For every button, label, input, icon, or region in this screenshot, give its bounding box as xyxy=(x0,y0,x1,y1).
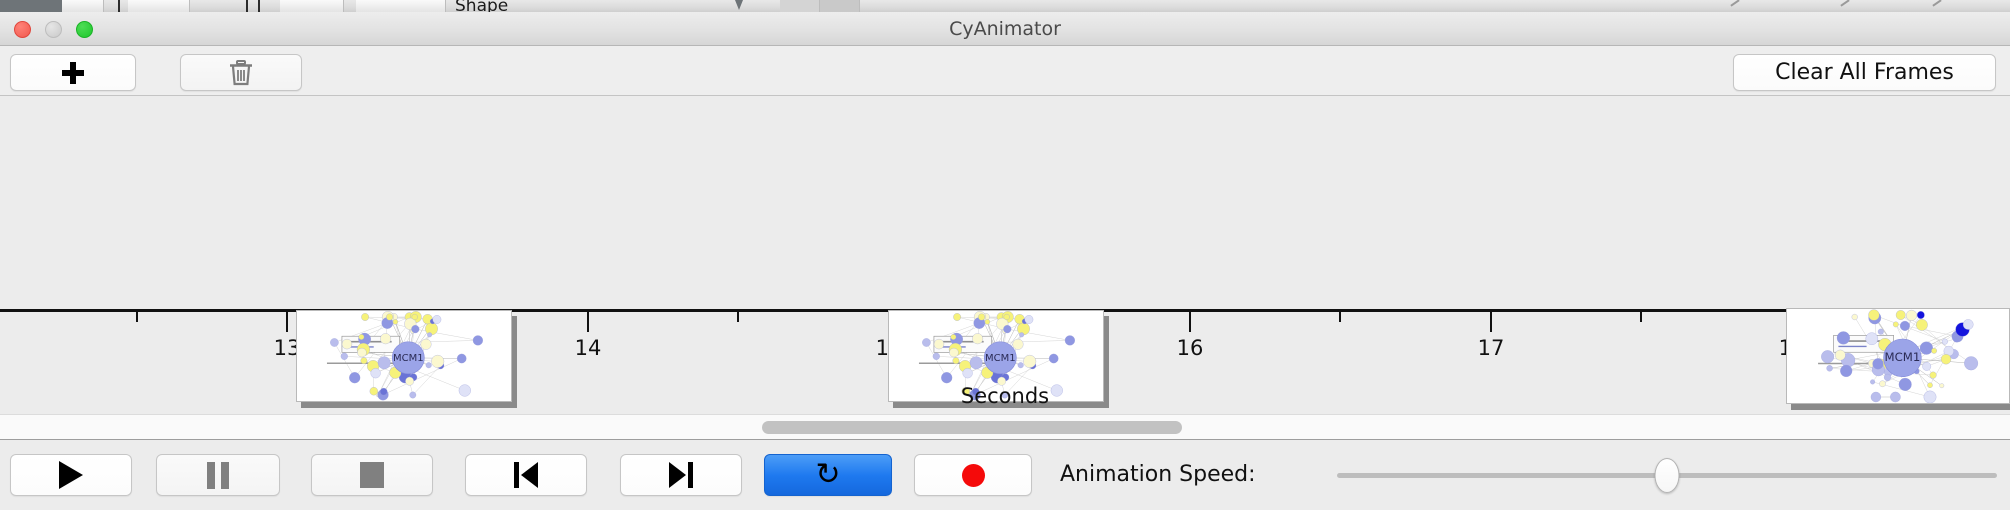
background-app-strip: Shape xyxy=(0,0,2010,12)
title-bar[interactable]: CyAnimator xyxy=(0,12,2010,46)
skip-back-icon xyxy=(514,462,538,488)
cyanimator-window: Shape CyAnimator xyxy=(0,0,2010,510)
axis-tick-major xyxy=(286,312,288,332)
trash-icon xyxy=(228,59,254,87)
background-tick xyxy=(118,0,120,12)
clear-all-frames-button[interactable]: Clear All Frames xyxy=(1733,54,1996,91)
frames-toolbar: Clear All Frames xyxy=(0,46,2010,96)
record-icon xyxy=(962,464,985,487)
add-frame-button[interactable] xyxy=(10,54,136,91)
playback-controls: ↻ Animation Speed: xyxy=(0,441,2010,510)
delete-frame-button[interactable] xyxy=(180,54,302,91)
timeline-panel[interactable]: 2131415161718 MCM1MCM1MCM1 Seconds xyxy=(0,96,2010,414)
axis-title: Seconds xyxy=(0,384,2010,408)
skip-forward-button[interactable] xyxy=(620,454,742,496)
loop-button[interactable]: ↻ xyxy=(764,454,892,496)
loop-icon: ↻ xyxy=(815,460,840,490)
background-tab xyxy=(356,0,446,12)
axis-tick-minor xyxy=(1339,312,1341,322)
background-tick xyxy=(258,0,260,12)
animation-speed-label: Animation Speed: xyxy=(1060,454,1256,496)
background-tab xyxy=(280,0,344,12)
axis-tick-minor xyxy=(1640,312,1642,322)
axis-tick-major xyxy=(587,312,589,332)
background-slash-icon xyxy=(1840,0,1849,7)
stop-button[interactable] xyxy=(311,454,433,496)
svg-text:MCM1: MCM1 xyxy=(985,353,1016,364)
background-tab xyxy=(780,0,820,12)
svg-text:MCM1: MCM1 xyxy=(1885,350,1921,364)
background-tab xyxy=(820,0,860,12)
svg-text:MCM1: MCM1 xyxy=(393,353,424,364)
skip-back-button[interactable] xyxy=(465,454,587,496)
scrollbar-thumb[interactable] xyxy=(762,421,1182,434)
timeline-scrollbar[interactable] xyxy=(0,414,2010,440)
clear-all-frames-label: Clear All Frames xyxy=(1775,60,1954,85)
stop-icon xyxy=(360,462,384,488)
background-arrow-icon xyxy=(735,0,743,10)
background-tab xyxy=(62,0,104,12)
window-title: CyAnimator xyxy=(0,12,2010,46)
background-slash-icon xyxy=(1932,0,1941,7)
axis-tick-minor xyxy=(737,312,739,322)
background-app-label: Shape xyxy=(455,0,508,12)
axis-tick-label: 14 xyxy=(575,336,602,360)
skip-forward-icon xyxy=(669,462,693,488)
axis-tick-label: 17 xyxy=(1478,336,1505,360)
slider-thumb[interactable] xyxy=(1655,458,1680,493)
axis-tick-minor xyxy=(136,312,138,322)
background-chip xyxy=(0,0,62,12)
animation-speed-slider[interactable] xyxy=(1337,473,1997,478)
background-slash-icon xyxy=(1730,0,1739,7)
axis-tick-major xyxy=(1189,312,1191,332)
record-button[interactable] xyxy=(914,454,1032,496)
background-tab xyxy=(128,0,190,12)
play-button[interactable] xyxy=(10,454,132,496)
play-icon xyxy=(59,461,83,489)
axis-tick-major xyxy=(1490,312,1492,332)
background-tick xyxy=(246,0,248,12)
axis-tick-label: 16 xyxy=(1177,336,1204,360)
pause-icon xyxy=(207,462,229,489)
pause-button[interactable] xyxy=(156,454,280,496)
plus-icon xyxy=(62,62,84,84)
